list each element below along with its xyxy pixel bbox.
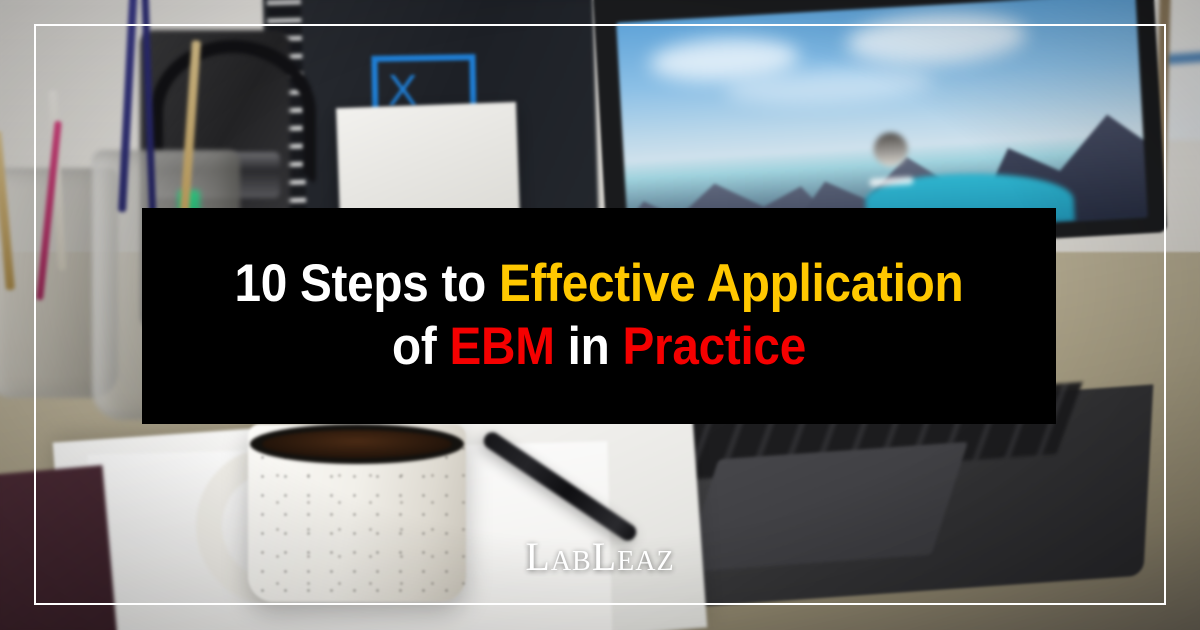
coffee-liquid bbox=[262, 430, 452, 458]
brand-logo: LabLeaz bbox=[0, 534, 1200, 580]
title-segment-gold: Effective Application bbox=[499, 254, 963, 313]
title-overlay-box: 10 Steps to Effective Application of EBM… bbox=[142, 208, 1056, 424]
title-line-2: of EBM in Practice bbox=[392, 316, 806, 379]
title-segment-white: in bbox=[555, 317, 623, 376]
title-segment-white: 10 Steps to bbox=[235, 254, 500, 313]
cloud-shape bbox=[845, 9, 1028, 69]
title-segment-white: of bbox=[392, 317, 449, 376]
banner: X 10 Steps to Effective Application of E… bbox=[0, 0, 1200, 630]
title-segment-red: Practice bbox=[622, 317, 805, 376]
title-segment-red: EBM bbox=[449, 317, 554, 376]
title-line-1: 10 Steps to Effective Application bbox=[235, 253, 964, 316]
